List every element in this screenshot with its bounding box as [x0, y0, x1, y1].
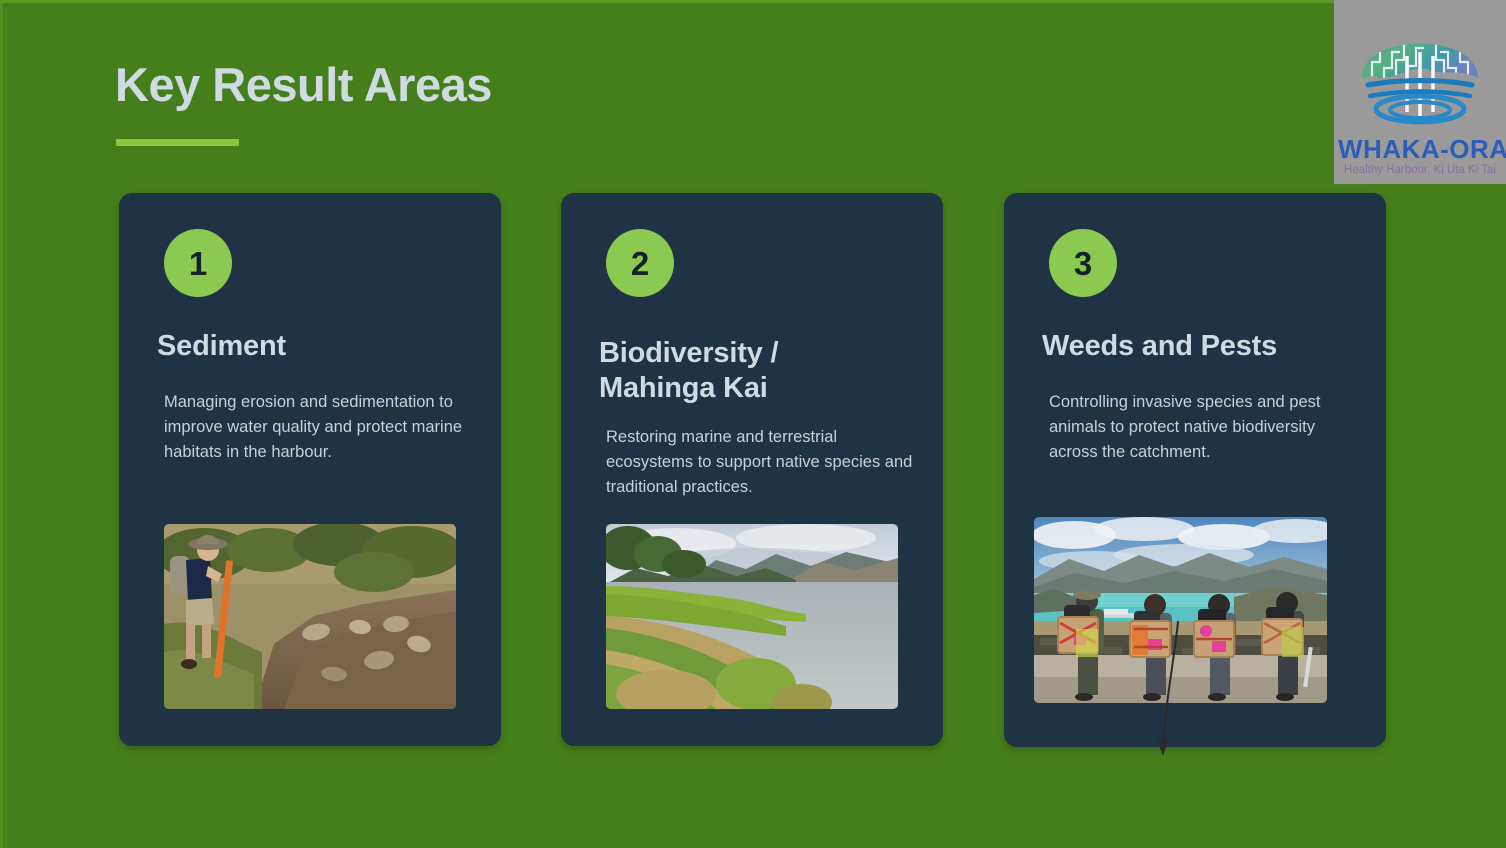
kra-card-description: Controlling invasive species and pest an… — [1049, 390, 1362, 465]
logo-wordmark: WHAKA-ORA — [1334, 134, 1506, 165]
brand-logo-panel: WHAKA-ORA Healthy Harbour, Ki Uta Ki Tai — [1334, 0, 1506, 184]
kra-number-badge: 1 — [164, 229, 232, 297]
slide-top-edge — [0, 0, 1506, 3]
slide-left-edge — [0, 0, 3, 848]
kra-card-description: Managing erosion and sedimentation to im… — [164, 390, 471, 465]
kra-card-description: Restoring marine and terrestrial ecosyst… — [606, 425, 915, 500]
photo-erosion-survey — [164, 524, 456, 709]
photo-estuary-saltmarsh — [606, 524, 898, 709]
kra-number-badge: 3 — [1049, 229, 1117, 297]
page-title: Key Result Areas — [115, 57, 492, 112]
kra-card-biodiversity[interactable]: 2 Biodiversity / Mahinga Kai Restoring m… — [561, 193, 943, 746]
logo-tagline: Healthy Harbour, Ki Uta Ki Tai — [1334, 164, 1506, 176]
kra-card-sediment[interactable]: 1 Sediment Managing erosion and sediment… — [119, 193, 501, 746]
kra-number-badge: 2 — [606, 229, 674, 297]
title-underline-accent — [116, 139, 239, 146]
kra-card-title: Weeds and Pests — [1042, 329, 1362, 364]
kra-card-title: Sediment — [157, 329, 477, 364]
kra-card-title: Biodiversity / Mahinga Kai — [599, 336, 919, 407]
photo-pest-control-team — [1034, 517, 1327, 703]
kra-card-weeds-and-pests[interactable]: 3 Weeds and Pests Controlling invasive s… — [1004, 193, 1386, 747]
whaka-ora-harbour-logo-icon — [1350, 6, 1490, 130]
slide-key-result-areas: Key Result Areas — [0, 0, 1506, 848]
